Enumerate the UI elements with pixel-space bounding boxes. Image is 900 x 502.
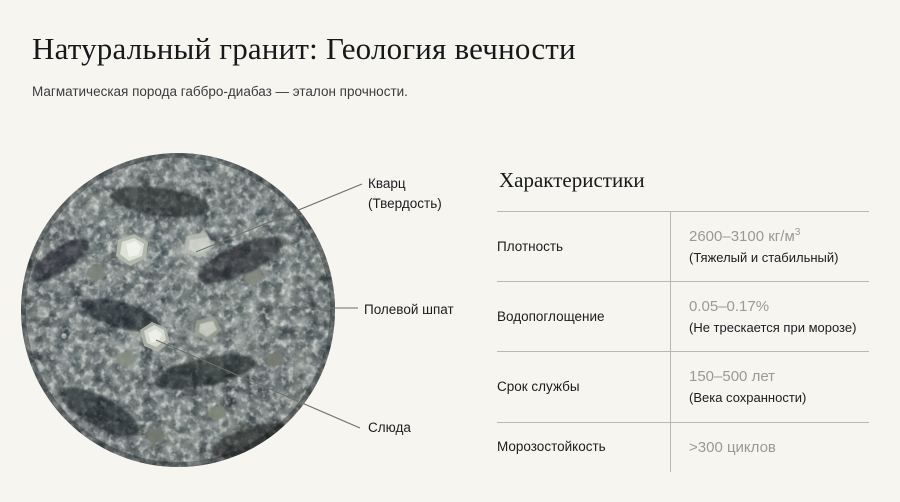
spec-value-cell: 2600–3100 кг/м3 (Тяжелый и стабильный) (671, 212, 870, 282)
spec-value-superscript: 3 (795, 227, 801, 238)
specs-heading: Характеристики (499, 168, 869, 193)
table-row: Водопоглощение 0.05–0.17% (Не трескается… (497, 282, 869, 352)
callout-feldspar-label: Полевой шпат (364, 302, 454, 317)
page-title: Натуральный гранит: Геология вечности (32, 30, 852, 67)
slide-canvas: Натуральный гранит: Геология вечности Ма… (0, 0, 900, 502)
spec-value-text: 2600–3100 кг/м (689, 228, 795, 245)
spec-value-cell: >300 циклов (671, 422, 870, 472)
header: Натуральный гранит: Геология вечности Ма… (32, 30, 852, 101)
callout-quartz-label: Кварц (368, 176, 406, 191)
spec-note: (Не трескается при морозе) (689, 319, 869, 337)
page-subtitle: Магматическая порода габбро-диабаз — эта… (32, 83, 852, 101)
callout-quartz-sub: (Твердость) (368, 194, 442, 214)
table-row: Плотность 2600–3100 кг/м3 (Тяжелый и ста… (497, 212, 869, 282)
spec-note: (Тяжелый и стабильный) (689, 249, 869, 267)
spec-value-text: >300 циклов (689, 439, 776, 456)
spec-label: Срок службы (497, 352, 671, 422)
spec-value-cell: 0.05–0.17% (Не трескается при морозе) (671, 282, 870, 352)
spec-note: (Века сохранности) (689, 389, 869, 407)
spec-value: >300 циклов (689, 437, 869, 459)
callout-mica-label: Слюда (368, 420, 411, 435)
spec-label: Плотность (497, 212, 671, 282)
callout-feldspar: Полевой шпат (364, 300, 454, 320)
table-row: Срок службы 150–500 лет (Века сохранност… (497, 352, 869, 422)
specs-table: Плотность 2600–3100 кг/м3 (Тяжелый и ста… (497, 211, 869, 472)
callout-quartz: Кварц (Твердость) (368, 174, 442, 213)
specs-panel: Характеристики Плотность 2600–3100 кг/м3… (497, 168, 869, 472)
spec-value: 0.05–0.17% (689, 296, 869, 318)
spec-value-cell: 150–500 лет (Века сохранности) (671, 352, 870, 422)
spec-value-text: 150–500 лет (689, 368, 775, 385)
spec-label: Водопоглощение (497, 282, 671, 352)
spec-value: 2600–3100 кг/м3 (689, 226, 869, 248)
specs-table-body: Плотность 2600–3100 кг/м3 (Тяжелый и ста… (497, 212, 869, 473)
spec-label: Морозостойкость (497, 422, 671, 472)
table-row: Морозостойкость >300 циклов (497, 422, 869, 472)
spec-value-text: 0.05–0.17% (689, 298, 769, 315)
callout-mica: Слюда (368, 418, 411, 438)
spec-value: 150–500 лет (689, 366, 869, 388)
granite-figure: Кварц (Твердость) Полевой шпат Слюда (0, 140, 470, 490)
